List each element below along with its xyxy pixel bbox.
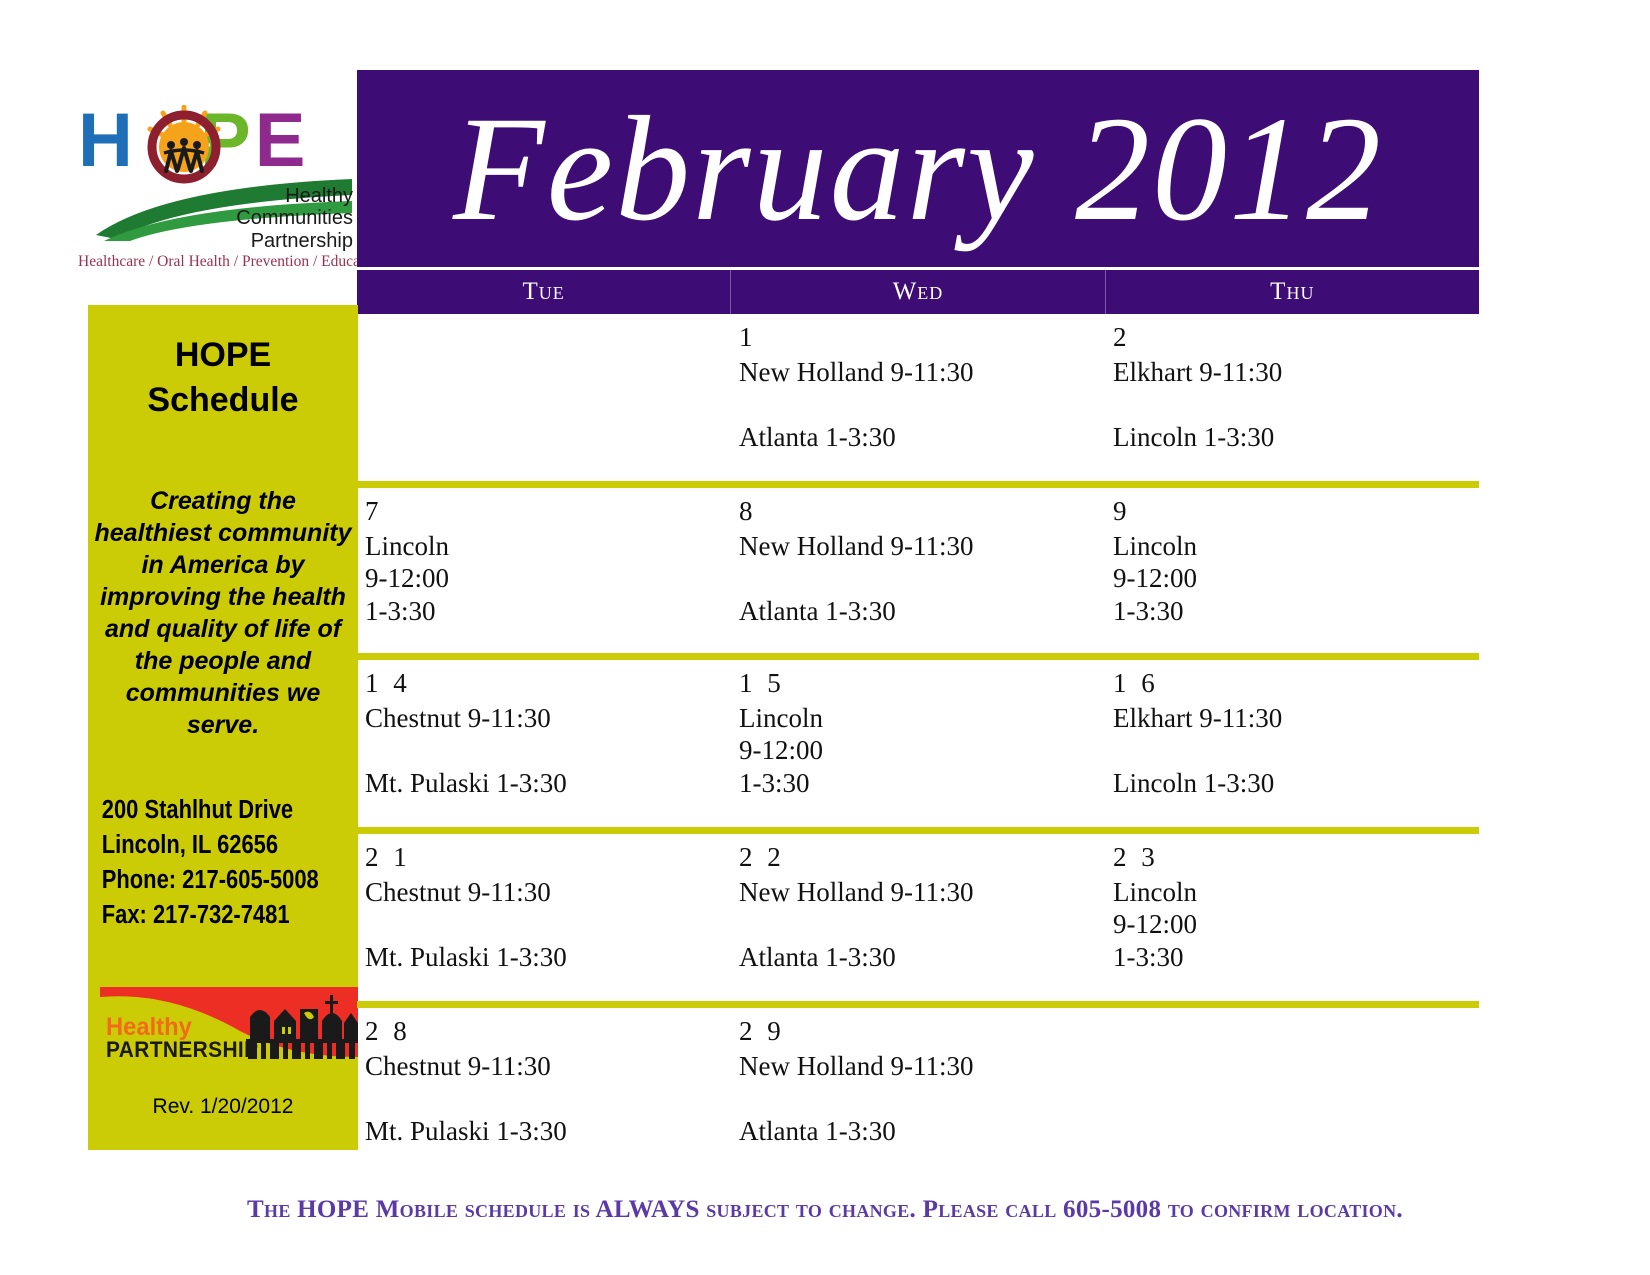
info-sidebar: HOPE Schedule Creating the healthiest co… [88,305,358,1150]
day-cell[interactable]: 1 4 Chestnut 9-11:30 Mt. Pulaski 1-3:30 [357,660,731,827]
day-events: New Holland 9-11:30 Atlanta 1-3:30 [739,1050,1105,1147]
hope-brand-logo: HOPE Healthy Com [78,95,353,280]
day-cell[interactable] [357,314,731,481]
day-events: Lincoln 9-12:00 1-3:30 [1113,876,1479,973]
day-number: 8 [739,496,1105,528]
calendar-week-row: 2 8 Chestnut 9-11:30 Mt. Pulaski 1-3:30 … [357,1001,1479,1171]
day-cell[interactable]: 2 2 New Holland 9-11:30 Atlanta 1-3:30 [731,834,1105,1001]
day-events: Chestnut 9-11:30 Mt. Pulaski 1-3:30 [365,1050,731,1147]
wordmark-letter-h: H [78,98,137,183]
day-cell[interactable]: 1 6 Elkhart 9-11:30 Lincoln 1-3:30 [1105,660,1479,827]
day-events: New Holland 9-11:30 Atlanta 1-3:30 [739,356,1105,453]
day-events: Elkhart 9-11:30 Lincoln 1-3:30 [1113,702,1479,799]
logo-tagline: Healthy Communities Partnership [236,185,353,252]
weekday-header-tue: Tue [357,270,731,314]
calendar-grid: 1 New Holland 9-11:30 Atlanta 1-3:30 2 E… [357,314,1479,1150]
day-cell[interactable]: 2 1 Chestnut 9-11:30 Mt. Pulaski 1-3:30 [357,834,731,1001]
day-cell[interactable]: 1 New Holland 9-11:30 Atlanta 1-3:30 [731,314,1105,481]
day-number: 7 [365,496,731,528]
wordmark-letter-e: E [255,98,310,183]
town-skyline-icon [246,987,358,1059]
month-banner: February 2012 [357,70,1479,267]
day-number: 2 9 [739,1016,1105,1048]
day-events: Elkhart 9-11:30 Lincoln 1-3:30 [1113,356,1479,453]
day-cell[interactable]: 2 Elkhart 9-11:30 Lincoln 1-3:30 [1105,314,1479,481]
day-events: New Holland 9-11:30 Atlanta 1-3:30 [739,876,1105,973]
sidebar-revision-date: Rev. 1/20/2012 [88,1095,358,1119]
day-events: New Holland 9-11:30 Atlanta 1-3:30 [739,530,1105,627]
hcp-partnership-text: PARTNERSHIP [106,1037,258,1059]
calendar-week-row: 7 Lincoln 9-12:00 1-3:30 8 New Holland 9… [357,481,1479,653]
weekday-header-wed: Wed [731,270,1105,314]
day-number: 1 [739,322,1105,354]
day-number: 1 4 [365,668,731,700]
day-number: 1 5 [739,668,1105,700]
day-cell[interactable] [1105,1008,1479,1171]
day-number: 9 [1113,496,1479,528]
logo-subtagline: Healthcare / Oral Health / Prevention / … [78,253,353,271]
sidebar-contact-block: 200 Stahlhut Drive Lincoln, IL 62656 Pho… [88,793,320,934]
day-number: 2 2 [739,842,1105,874]
day-cell[interactable]: 7 Lincoln 9-12:00 1-3:30 [357,488,731,653]
day-cell[interactable]: 2 3 Lincoln 9-12:00 1-3:30 [1105,834,1479,1001]
healthy-communities-partnership-logo: Healthy Communities PARTNERSHIP [100,987,358,1059]
day-events: Lincoln 9-12:00 1-3:30 [1113,530,1479,627]
day-number: 2 8 [365,1016,731,1048]
day-events: Chestnut 9-11:30 Mt. Pulaski 1-3:30 [365,702,731,799]
page-title: February 2012 [357,94,1479,244]
day-number: 2 [1113,322,1479,354]
sidebar-mission-statement: Creating the healthiest community in Ame… [88,485,358,741]
day-number: 1 6 [1113,668,1479,700]
day-cell[interactable]: 1 5 Lincoln 9-12:00 1-3:30 [731,660,1105,827]
footer-disclaimer: The HOPE Mobile schedule is ALWAYS subje… [0,1196,1650,1224]
day-events: Lincoln 9-12:00 1-3:30 [739,702,1105,799]
day-cell[interactable]: 2 9 New Holland 9-11:30 Atlanta 1-3:30 [731,1008,1105,1171]
weekday-header-row: Tue Wed Thu [357,270,1479,314]
logo-tagline-line-2: Communities [236,207,353,229]
calendar-week-row: 2 1 Chestnut 9-11:30 Mt. Pulaski 1-3:30 … [357,827,1479,1001]
day-cell[interactable]: 2 8 Chestnut 9-11:30 Mt. Pulaski 1-3:30 [357,1008,731,1171]
day-cell[interactable]: 8 New Holland 9-11:30 Atlanta 1-3:30 [731,488,1105,653]
day-number: 2 1 [365,842,731,874]
sidebar-heading: HOPE Schedule [88,333,358,423]
calendar-week-row: 1 4 Chestnut 9-11:30 Mt. Pulaski 1-3:30 … [357,653,1479,827]
weekday-header-thu: Thu [1106,270,1479,314]
day-number: 2 3 [1113,842,1479,874]
day-events: Lincoln 9-12:00 1-3:30 [365,530,731,627]
logo-tagline-line-1: Healthy [236,185,353,207]
day-events: Chestnut 9-11:30 Mt. Pulaski 1-3:30 [365,876,731,973]
logo-tagline-line-3: Partnership [236,230,353,252]
day-cell[interactable]: 9 Lincoln 9-12:00 1-3:30 [1105,488,1479,653]
calendar-week-row: 1 New Holland 9-11:30 Atlanta 1-3:30 2 E… [357,314,1479,481]
